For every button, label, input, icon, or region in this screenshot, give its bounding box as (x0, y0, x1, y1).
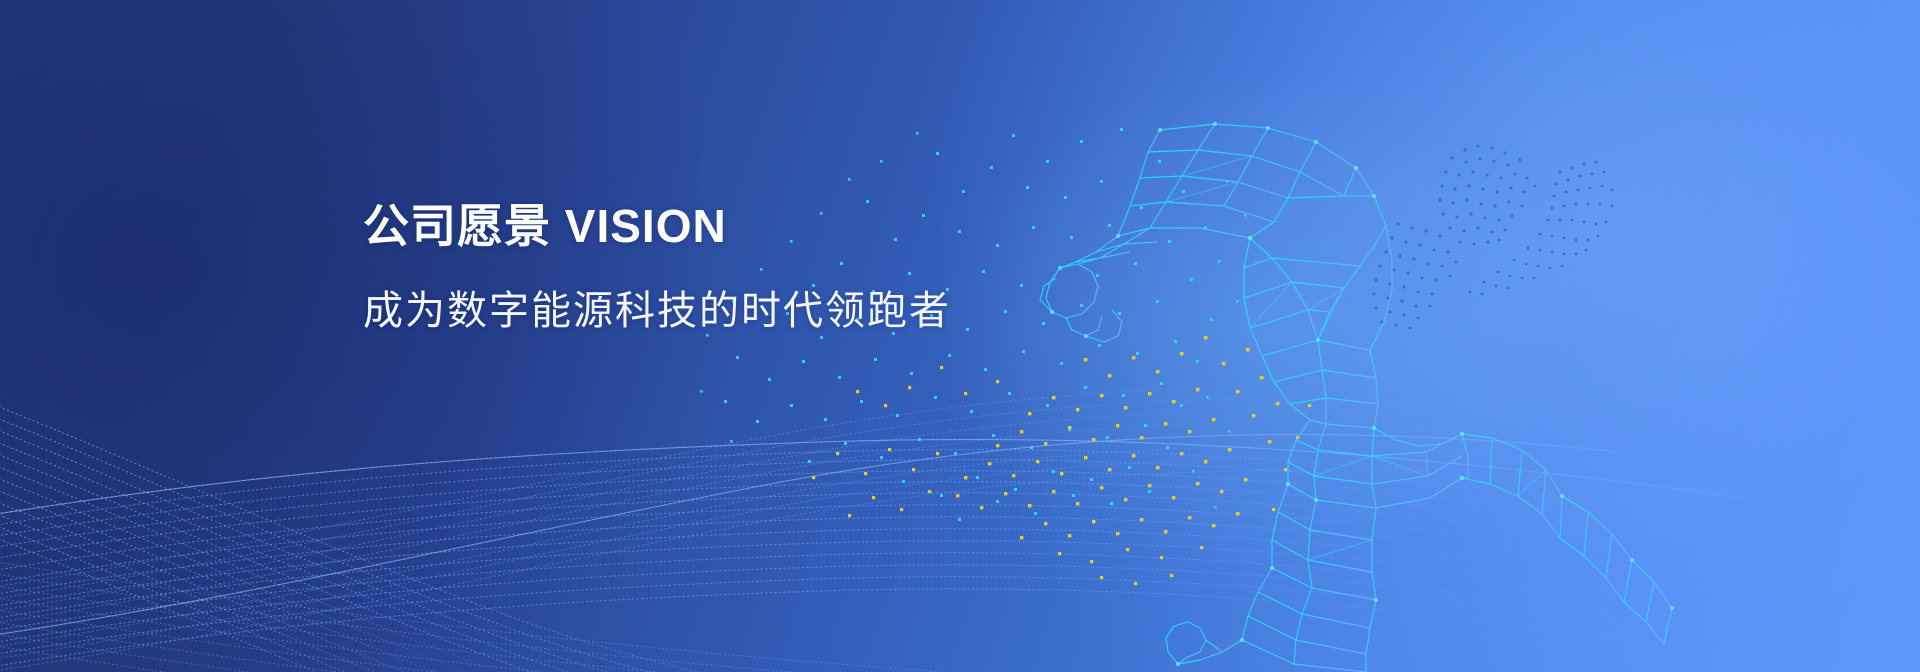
runner-wireframe-mesh (1040, 124, 1672, 672)
hero-text-block: 公司愿景 VISION 成为数字能源科技的时代领跑者 (363, 196, 951, 336)
page-title: 公司愿景 VISION (363, 196, 951, 256)
runner-mesh-nodes (1050, 122, 1674, 666)
left-shadow-glow (0, 0, 700, 672)
right-light-glow (940, 0, 1920, 672)
vision-hero-banner: 公司愿景 VISION 成为数字能源科技的时代领跑者 (0, 0, 1920, 672)
wireframe-runner-artwork (0, 0, 1920, 672)
wave-mesh-artwork (0, 0, 1920, 672)
dispersing-particles-artwork (0, 0, 1920, 672)
runner-body-stipple (1372, 145, 1613, 330)
page-subtitle: 成为数字能源科技的时代领跑者 (363, 286, 951, 336)
